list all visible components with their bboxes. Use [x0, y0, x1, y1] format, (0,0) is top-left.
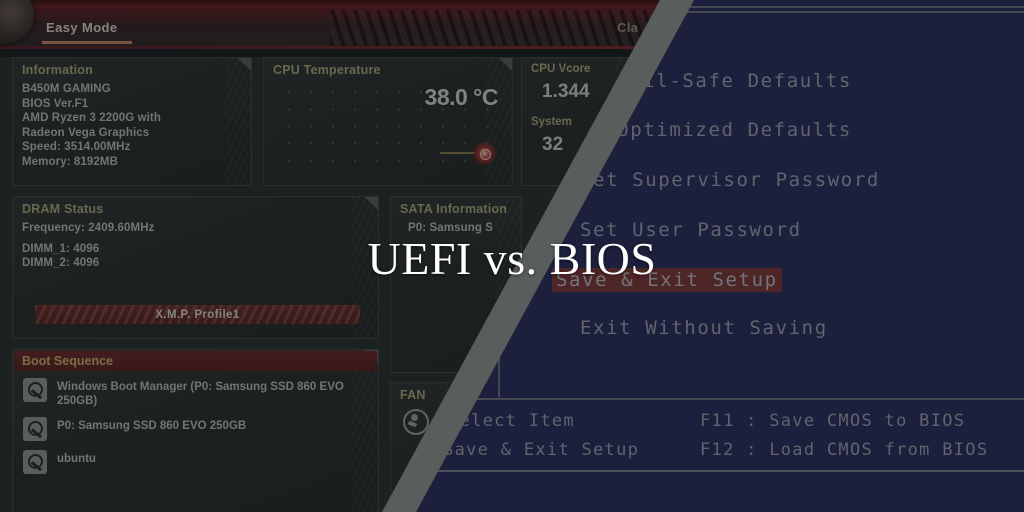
cpu-vcore-value: 1.344: [542, 81, 590, 103]
panel-sata-information-title: SATA Information: [400, 202, 507, 216]
hard-disk-icon: [23, 378, 47, 402]
hard-disk-icon: [23, 450, 47, 474]
system-temperature-title: System: [531, 116, 572, 128]
panel-information: Information B450M GAMING BIOS Ver.F1 AMD…: [12, 57, 252, 186]
bios-help-f12: F12 : Load CMOS from BIOS: [700, 440, 988, 460]
tab-classic-mode[interactable]: Cla: [617, 20, 638, 35]
panel-cpu-temperature-title: CPU Temperature: [273, 63, 381, 77]
info-line-bios-ver: BIOS Ver.F1: [22, 97, 243, 112]
panel-dram-status-title: DRAM Status: [22, 202, 103, 216]
bios-help-select-item: Select Item: [448, 411, 575, 431]
screenshot-root: Easy Mode Cla Information B450M GAMING B…: [0, 0, 1024, 512]
xmp-profile-button[interactable]: X.M.P. Profile1: [35, 305, 360, 324]
system-temperature-value: 32: [542, 134, 563, 156]
hard-disk-icon: [23, 417, 47, 441]
cpu-temperature-value: 38.0 °C: [425, 84, 498, 111]
tab-easy-mode[interactable]: Easy Mode: [46, 20, 118, 35]
cpu-vcore-title: CPU Vcore: [531, 63, 590, 75]
cpu-temperature-graph-point: [473, 142, 496, 165]
panel-fan-title: FAN: [400, 388, 426, 402]
panel-boot-sequence: Boot Sequence Windows Boot Manager (P0: …: [12, 349, 379, 512]
panel-boot-sequence-title: Boot Sequence: [22, 354, 113, 368]
info-line-memory: Memory: 8192MB: [22, 155, 243, 170]
page-title: UEFI vs. BIOS: [0, 232, 1024, 285]
list-item[interactable]: P0: Samsung SSD 860 EVO 250GB: [23, 417, 370, 441]
list-item[interactable]: Windows Boot Manager (P0: Samsung SSD 86…: [23, 378, 370, 408]
bios-help-f11: F11 : Save CMOS to BIOS: [700, 411, 965, 431]
panel-cpu-temperature: CPU Temperature 38.0 °C: [263, 57, 513, 186]
panel-corner-icon: [499, 58, 512, 71]
boot-item-label: P0: Samsung SSD 860 EVO 250GB: [57, 417, 246, 433]
info-line-board: B450M GAMING: [22, 82, 243, 97]
bios-help-save-exit: : Save & Exit Setup: [420, 440, 639, 460]
info-line-speed: Speed: 3514.00MHz: [22, 140, 243, 155]
panel-information-title: Information: [22, 63, 93, 77]
info-line-cpu-1: AMD Ryzen 3 2200G with: [22, 111, 243, 126]
boot-sequence-list: Windows Boot Manager (P0: Samsung SSD 86…: [23, 378, 370, 483]
bios-menu-item-exit-without-saving[interactable]: Exit Without Saving: [580, 317, 828, 339]
fan-icon: [403, 409, 429, 435]
list-item[interactable]: ubuntu: [23, 450, 370, 474]
bios-menu-item-set-supervisor-password[interactable]: Set Supervisor Password: [580, 169, 880, 191]
panel-corner-icon: [238, 58, 251, 71]
panel-boot-sequence-header: Boot Sequence: [14, 351, 377, 371]
boot-item-label: Windows Boot Manager (P0: Samsung SSD 86…: [57, 378, 370, 408]
cpu-temperature-graph-line: [440, 152, 476, 154]
panel-information-body: B450M GAMING BIOS Ver.F1 AMD Ryzen 3 220…: [22, 82, 243, 169]
info-line-cpu-2: Radeon Vega Graphics: [22, 126, 243, 141]
boot-item-label: ubuntu: [57, 450, 96, 466]
panel-corner-icon: [365, 197, 378, 210]
